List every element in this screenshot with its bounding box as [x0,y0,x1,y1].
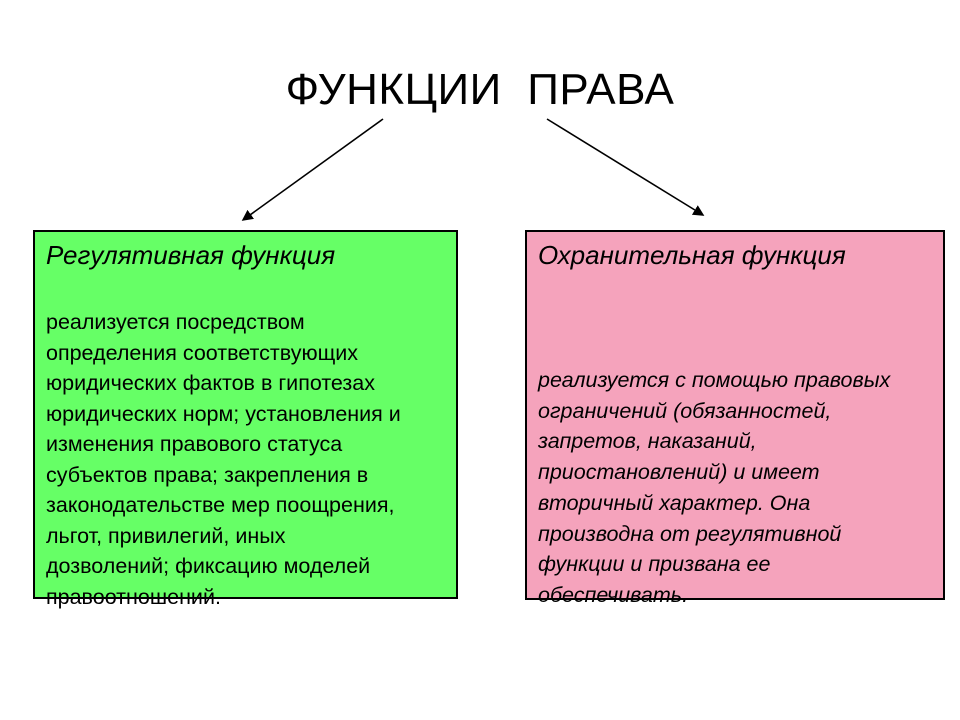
regulative-function-box: Регулятивная функция реализуется посредс… [33,230,458,599]
regulative-function-body: реализуется посредством определения соот… [46,307,446,612]
page-title: ФУНКЦИИ ПРАВА [0,66,960,114]
protective-function-body: реализуется с помощью правовых ограничен… [538,365,938,611]
arrow-to-regulative-line [243,119,383,220]
protective-function-heading: Охранительная функция [538,238,846,272]
slide-canvas: ФУНКЦИИ ПРАВА Регулятивная функция реали… [0,0,960,720]
arrow-to-protective-line [547,119,703,215]
regulative-function-heading: Регулятивная функция [46,238,335,272]
protective-function-box: Охранительная функция реализуется с помо… [525,230,945,600]
